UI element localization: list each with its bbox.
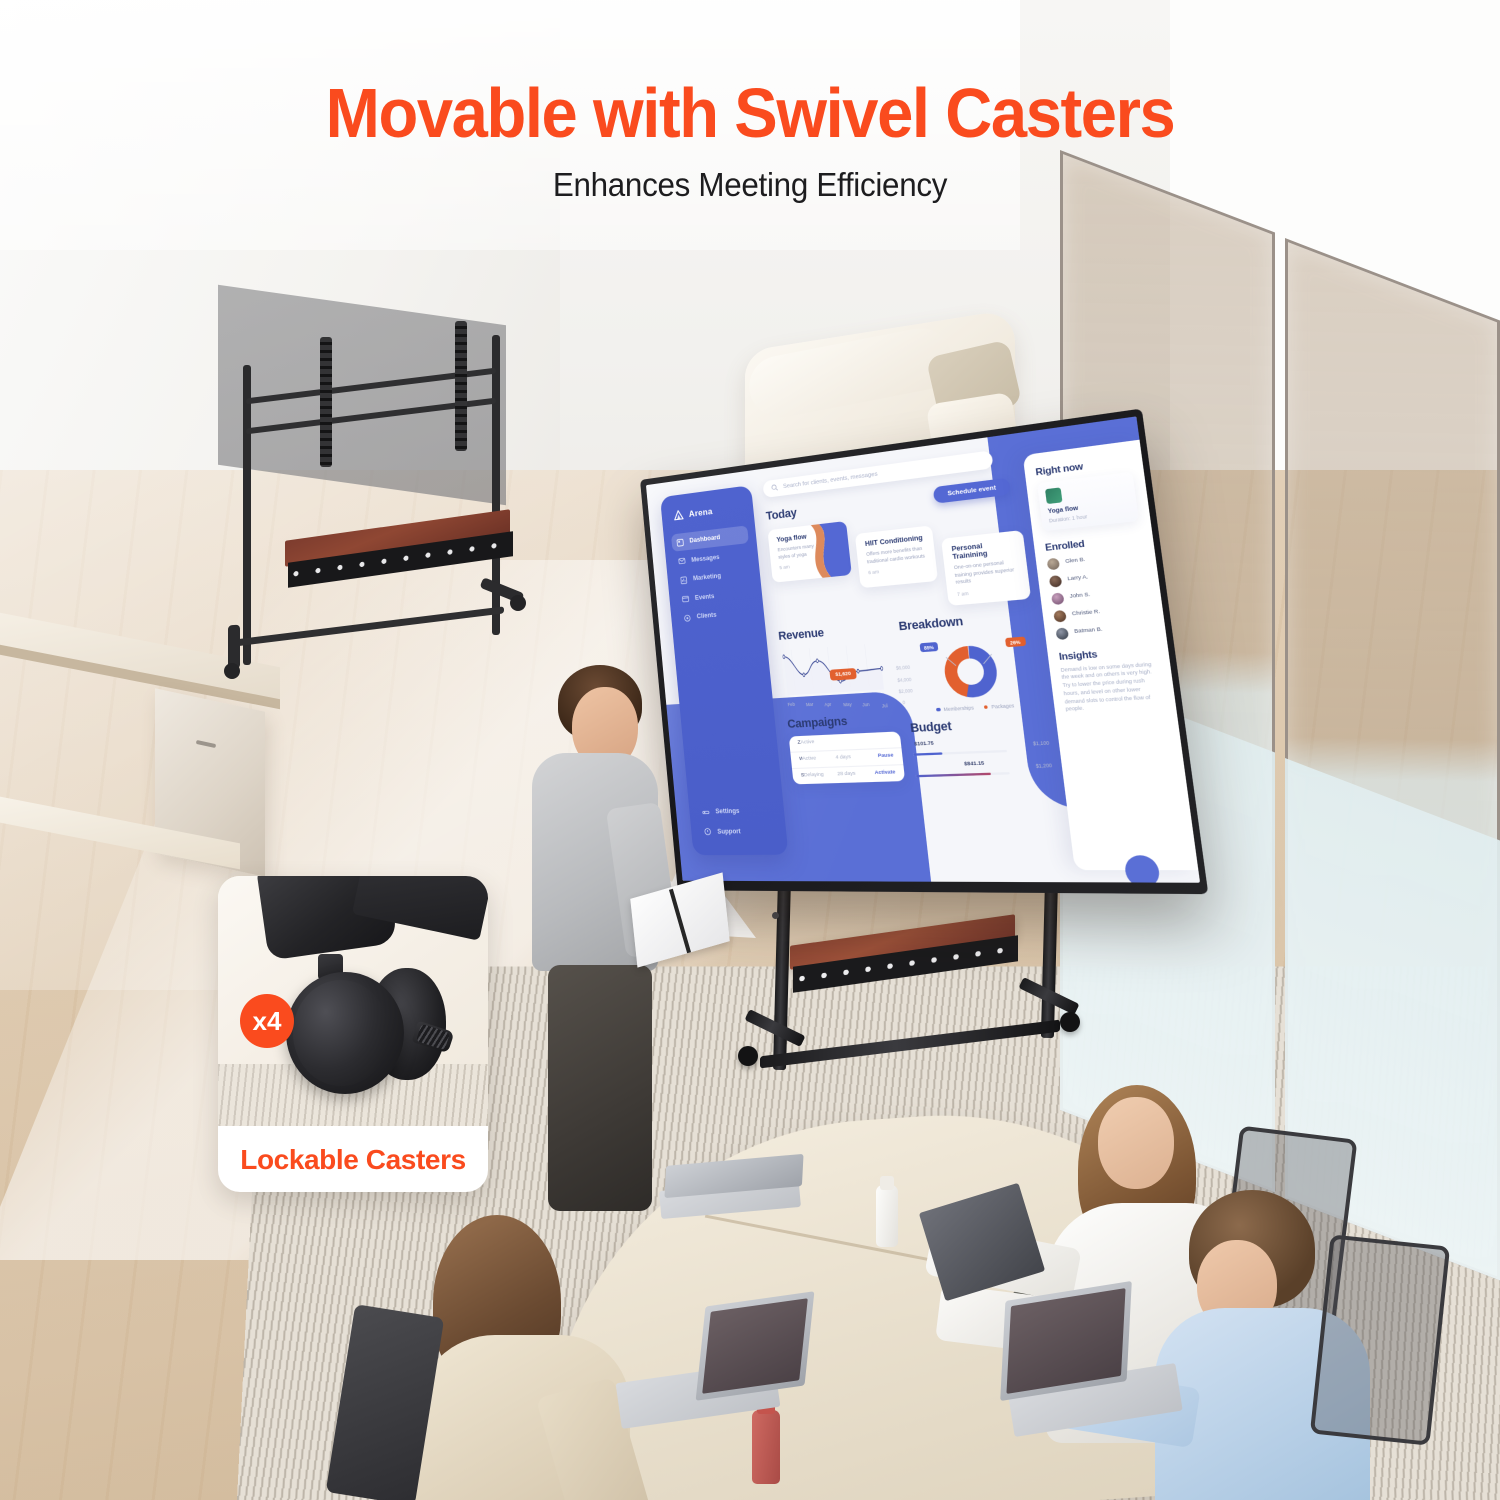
- card-title: Personal Trainining: [951, 539, 1016, 561]
- search-icon: [771, 483, 779, 493]
- tv-bezel: Arena Dashboard Messages: [640, 409, 1208, 895]
- sidebar-item-support[interactable]: Support: [698, 821, 779, 840]
- sidebar-item-label: Dashboard: [689, 534, 720, 545]
- legend-label: Packages: [991, 703, 1014, 710]
- list-item[interactable]: John S.: [1051, 584, 1149, 604]
- water-bottle-red: [752, 1410, 780, 1484]
- card-description: One-on-one personal training provides su…: [953, 558, 1019, 587]
- laptop-left-screen: [702, 1298, 808, 1394]
- sidebar-bottom-group: Settings Support: [696, 801, 779, 842]
- sidebar-item-label: Clients: [696, 611, 716, 620]
- budget-fill: [913, 752, 942, 755]
- today-card[interactable]: Personal Trainining One-on-one personal …: [941, 530, 1031, 606]
- revenue-section: Revenue: [778, 621, 905, 784]
- legend-item: Packages: [984, 703, 1015, 710]
- enrolled-list: Glen B. Larry A. John S.: [1047, 549, 1155, 640]
- events-icon: [681, 594, 689, 603]
- campaign-duration: 28 days: [837, 771, 867, 778]
- budget-max: $1,200: [1035, 762, 1052, 768]
- campaign-duration: 4 days: [835, 755, 865, 762]
- list-item[interactable]: Christie R.: [1053, 602, 1152, 622]
- brand-name: Arena: [688, 506, 713, 519]
- sidebar-item-label: Support: [717, 827, 741, 835]
- tv-panel: Arena Dashboard Messages: [646, 416, 1200, 882]
- avatar: [1051, 592, 1065, 605]
- table-row[interactable]: Sunrise Yoga, 13 minute morning... Delay…: [792, 764, 905, 784]
- ghost-tv-stand-original-position: [210, 295, 560, 690]
- campaigns-title: Campaigns: [787, 712, 899, 731]
- x-tick: May: [843, 702, 852, 708]
- sidebar-item-label: Events: [695, 592, 715, 601]
- legend-swatch: [984, 705, 988, 709]
- ghost-caster-back-right: [510, 595, 526, 611]
- chair-man-right: [1310, 1234, 1450, 1445]
- campaign-action[interactable]: Pause: [865, 754, 894, 761]
- campaign-duration: [834, 741, 864, 742]
- breakdown-donut-chart: 85% 26%: [900, 628, 1044, 708]
- campaigns-table: ZOOM Live HIIT w/ Luther Active Wake Up …: [789, 731, 905, 784]
- settings-icon: [702, 808, 711, 817]
- legs: [548, 965, 652, 1211]
- person-name: Christie R.: [1072, 609, 1101, 617]
- campaign-action[interactable]: [864, 740, 892, 741]
- insights-text: Demand is low on some days during the we…: [1060, 660, 1164, 714]
- ghost-vesa-right: [455, 321, 467, 451]
- avatar: [1053, 609, 1067, 622]
- triangle-logo-icon: [672, 508, 684, 522]
- avatar: [1055, 627, 1069, 640]
- today-title: Today: [765, 506, 797, 522]
- avatar: [1047, 557, 1061, 570]
- list-item[interactable]: Batman B.: [1055, 620, 1154, 639]
- ghost-bottom-rail: [234, 606, 504, 646]
- x-tick: Apr: [824, 702, 831, 708]
- campaigns-header: Campaigns: [787, 712, 899, 731]
- card-time: 6 am: [868, 564, 928, 575]
- search-placeholder: Search for clients, events, messages: [783, 471, 878, 490]
- insights-title: Insights: [1058, 643, 1157, 662]
- budget-fill: [916, 773, 991, 778]
- campaign-status: Active: [802, 756, 836, 763]
- caster-wheel-face: [293, 980, 389, 1086]
- right-now-card[interactable]: Yoga flow Duration: 1 hour: [1037, 472, 1139, 531]
- campaign-status: Delaying: [804, 772, 838, 779]
- budget-row: $101.75 $1,100: [912, 736, 1050, 757]
- decorative-blue-circle: [1123, 855, 1161, 883]
- legend-label: Memberships: [943, 705, 974, 712]
- revenue-tooltip: $1,620: [830, 668, 857, 681]
- list-item[interactable]: Glen B.: [1047, 549, 1145, 570]
- budget-max: $1,100: [1033, 740, 1050, 747]
- dashboard-icon: [676, 538, 684, 547]
- budget-title: Budget: [910, 715, 1048, 735]
- ghost-vesa-left: [320, 337, 332, 467]
- page-subtitle: Enhances Meeting Efficiency: [38, 166, 1463, 204]
- today-card[interactable]: Yoga flow Encounters many styles of yoga…: [767, 521, 852, 583]
- sidebar-item-settings[interactable]: Settings: [696, 801, 777, 821]
- caster-caption: Lockable Casters: [218, 1144, 488, 1176]
- x-tick: Feb: [787, 701, 795, 707]
- breakdown-section: Breakdown: [898, 609, 1045, 714]
- sidebar-item-label: Settings: [715, 807, 740, 815]
- lockable-caster-callout-card: x4 Lockable Casters: [218, 876, 488, 1192]
- page-title: Movable with Swivel Casters: [53, 78, 1448, 148]
- campaign-status: Active: [800, 739, 834, 746]
- quantity-badge: x4: [240, 994, 294, 1048]
- today-card[interactable]: HIIT Conditioning Offers more benefits t…: [855, 525, 938, 588]
- x-tick: Mar: [806, 701, 814, 707]
- person-name: John S.: [1069, 592, 1090, 600]
- room-scene: Arena Dashboard Messages: [0, 0, 1500, 1500]
- budget-value: $841.15: [964, 761, 985, 767]
- headline-block: Movable with Swivel Casters Enhances Mee…: [0, 78, 1500, 204]
- revenue-breakdown-row: Revenue: [778, 609, 1054, 784]
- class-thumbnail: [1045, 487, 1063, 504]
- ghost-post-left: [243, 365, 251, 665]
- legend-swatch: [936, 708, 940, 712]
- yoga-flow-artwork: [805, 521, 852, 579]
- schedule-event-button[interactable]: Schedule event: [933, 478, 1011, 504]
- water-bottle-white: [876, 1185, 898, 1247]
- donut-label-primary: 85%: [919, 642, 939, 652]
- avatar: [1049, 574, 1063, 587]
- y-tick: 0: [902, 700, 905, 706]
- marketing-icon: [680, 575, 688, 584]
- revenue-title: Revenue: [778, 621, 889, 643]
- ghost-caster-front-left: [224, 663, 240, 679]
- breakdown-budget-column: Breakdown: [898, 609, 1053, 781]
- bottle-cap-white: [880, 1176, 894, 1190]
- person-name: Glen B.: [1065, 557, 1086, 565]
- card-description: Offers more benefits than traditional ca…: [866, 545, 927, 566]
- campaign-action[interactable]: Activate: [867, 771, 896, 778]
- head: [1098, 1097, 1174, 1189]
- budget-value: $101.75: [914, 741, 934, 747]
- person-name: Larry A.: [1067, 575, 1088, 583]
- arena-dashboard-app: Arena Dashboard Messages: [646, 416, 1200, 882]
- sidebar-item-label: Marketing: [693, 572, 722, 582]
- revenue-line-chart: $1,620 Feb Mar Apr May Jun Jul $6,000 $4…: [780, 640, 897, 711]
- messages-icon: [678, 556, 686, 565]
- list-item[interactable]: Larry A.: [1049, 567, 1147, 588]
- card-time: 7 am: [957, 586, 1021, 597]
- sidebar-item-label: Messages: [691, 553, 720, 563]
- x-tick: Jun: [862, 702, 870, 708]
- budget-section: Budget $101.75 $1,100 $841.15: [910, 715, 1054, 778]
- clients-icon: [683, 613, 691, 622]
- budget-row: $841.15 $1,200: [914, 759, 1053, 779]
- legend-item: Memberships: [936, 705, 974, 713]
- tv-display: Arena Dashboard Messages: [640, 480, 1160, 1100]
- support-icon: [703, 827, 712, 836]
- x-tick: Jul: [881, 702, 887, 708]
- person-name: Batman B.: [1074, 627, 1103, 635]
